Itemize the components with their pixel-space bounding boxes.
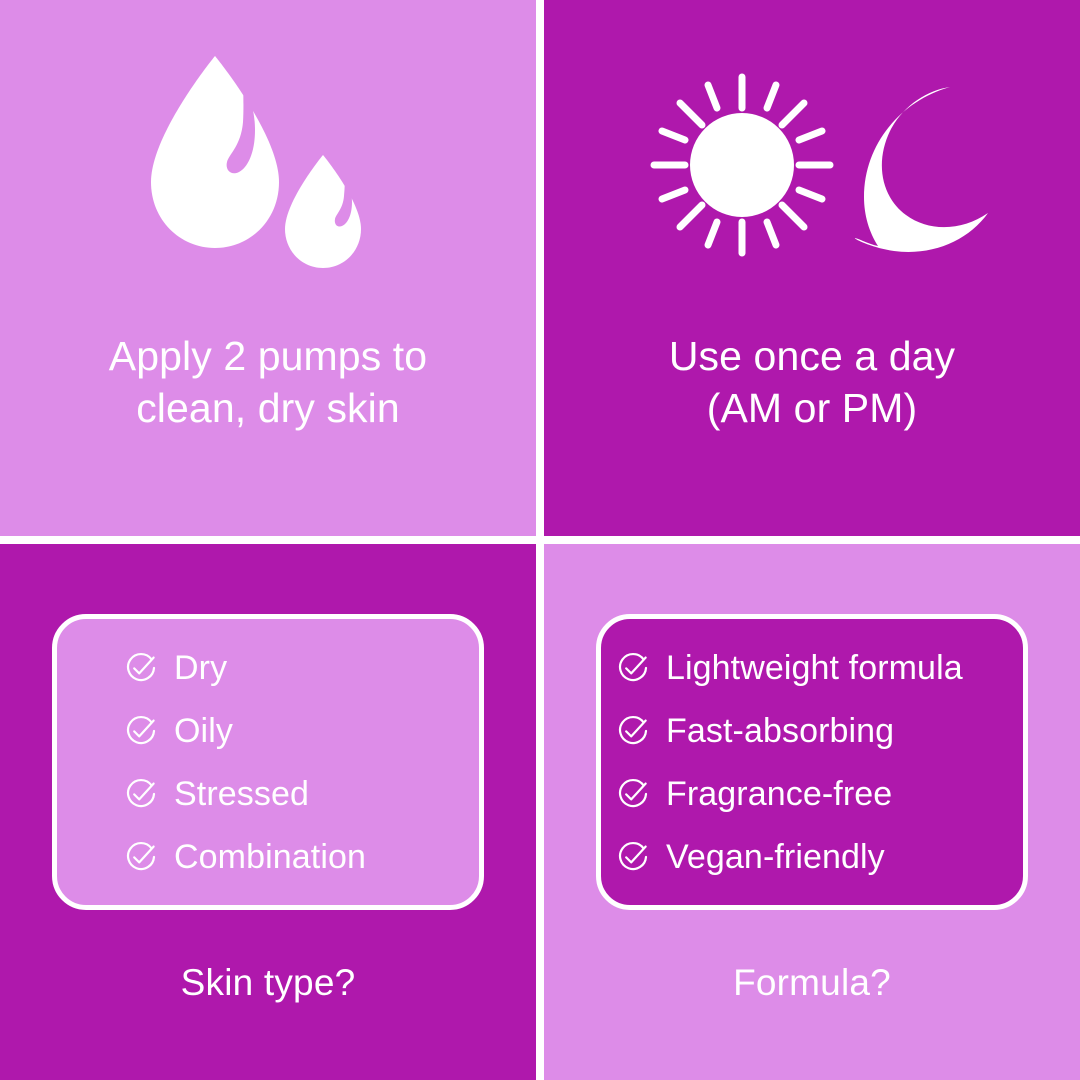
panel-frequency: Use once a day (AM or PM) [544,0,1080,536]
check-circle-icon [617,778,649,810]
list-item[interactable]: Vegan-friendly [617,825,1023,888]
frequency-caption: Use once a day (AM or PM) [649,330,975,435]
sun-moon-icon-area [544,0,1080,330]
skin-type-card: Dry Oily Stressed [52,614,484,910]
formula-card: Lightweight formula Fast-absorbing Fragr… [596,614,1028,910]
list-item[interactable]: Stressed [125,762,479,825]
check-circle-icon [617,652,649,684]
list-item-label: Stressed [174,777,309,811]
application-caption: Apply 2 pumps to clean, dry skin [89,330,447,435]
list-item[interactable]: Dry [125,636,479,699]
check-circle-icon [125,652,157,684]
list-item[interactable]: Fast-absorbing [617,699,1023,762]
check-circle-icon [617,715,649,747]
list-item-label: Dry [174,651,227,685]
list-item[interactable]: Lightweight formula [617,636,1023,699]
panel-formula: Lightweight formula Fast-absorbing Fragr… [544,544,1080,1080]
list-item[interactable]: Fragrance-free [617,762,1023,825]
list-item[interactable]: Combination [125,825,479,888]
list-item-label: Combination [174,840,366,874]
panel-skin-type: Dry Oily Stressed [0,544,536,1080]
check-circle-icon [125,841,157,873]
water-drops-icon [143,50,393,280]
check-circle-icon [125,715,157,747]
water-drops-icon-area [0,0,536,330]
list-item-label: Fast-absorbing [666,714,894,748]
sun-moon-icon-group [632,65,992,265]
skin-type-question: Skin type? [181,962,356,1004]
moon-icon [855,87,988,252]
list-item-label: Vegan-friendly [666,840,885,874]
sun-icon [654,77,830,253]
list-item-label: Lightweight formula [666,651,963,685]
list-item-label: Fragrance-free [666,777,892,811]
product-usage-infographic: Apply 2 pumps to clean, dry skin [0,0,1080,1080]
panel-application: Apply 2 pumps to clean, dry skin [0,0,536,536]
list-item[interactable]: Oily [125,699,479,762]
list-item-label: Oily [174,714,233,748]
check-circle-icon [617,841,649,873]
check-circle-icon [125,778,157,810]
formula-question: Formula? [733,962,891,1004]
